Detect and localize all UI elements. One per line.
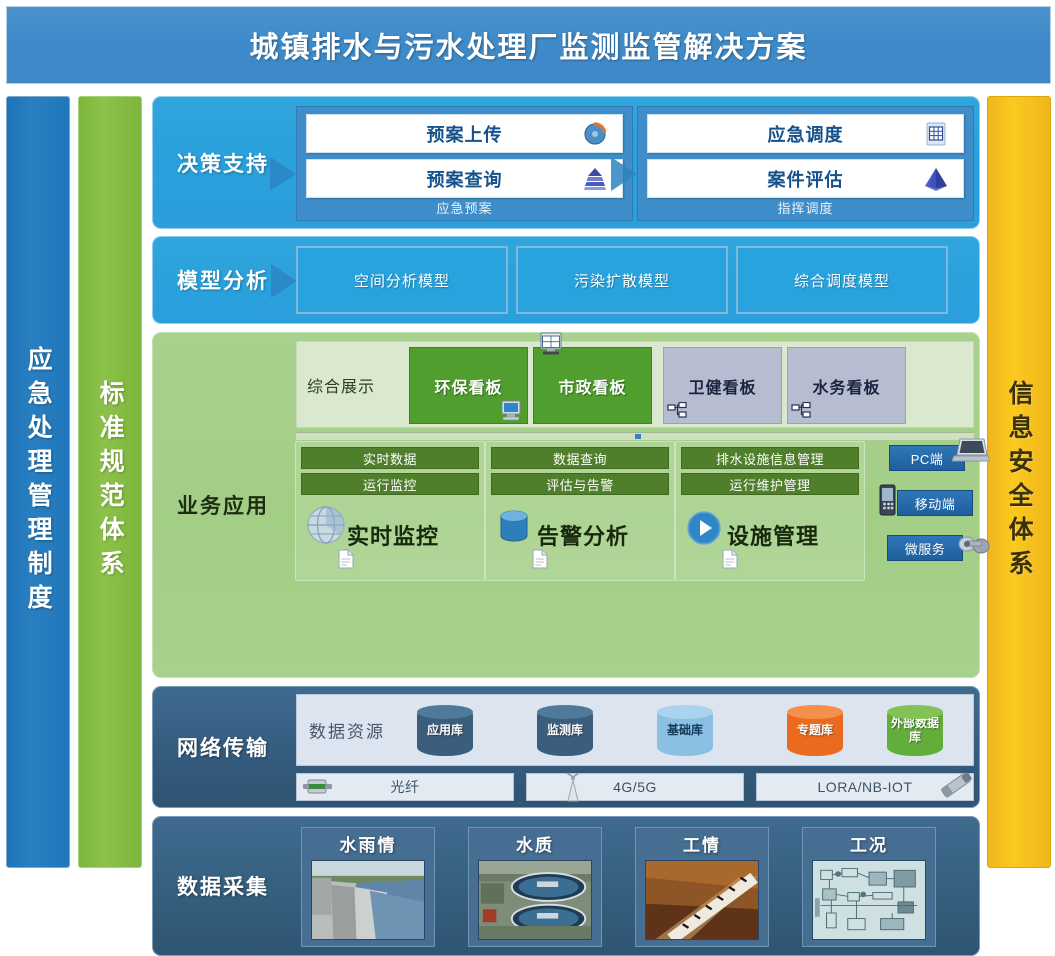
decision-group-command-dispatch-title: 指挥调度 xyxy=(638,198,973,217)
window-chart-icon xyxy=(538,332,564,356)
collect-card-engineering-status[interactable]: 工情 xyxy=(635,827,769,947)
fiber-module-icon xyxy=(303,776,333,798)
chip-operation-monitoring[interactable]: 运行监控 xyxy=(301,473,479,495)
chip-operation-maintenance-label: 运行维护管理 xyxy=(729,475,810,494)
model-card-spatial-analysis-label: 空间分析模型 xyxy=(354,270,450,291)
mobile-phone-icon xyxy=(876,483,900,517)
collect-card-water-quality[interactable]: 水质 xyxy=(468,827,602,947)
board-water-affairs-label: 水务看板 xyxy=(812,374,880,398)
grid-table-icon xyxy=(923,121,949,147)
model-card-spatial-analysis[interactable]: 空间分析模型 xyxy=(296,246,508,314)
chip-assessment-alarm-label: 评估与告警 xyxy=(546,475,614,494)
board-environmental-protection[interactable]: 环保看板 xyxy=(409,347,528,424)
sidebar-standard-specification-system: 标准规范体系 xyxy=(78,96,142,868)
collect-card-water-rain[interactable]: 水雨情 xyxy=(301,827,435,947)
layer-decision-support: 决策支持 预案上传 预案查询 xyxy=(152,96,980,229)
board-water-affairs[interactable]: 水务看板 xyxy=(787,347,906,424)
board-health-label: 卫健看板 xyxy=(688,374,756,398)
module-facility-management[interactable]: 设施管理 xyxy=(681,501,859,569)
sidebar-information-security-system: 信息安全体系 xyxy=(987,96,1051,868)
page-title-bar: 城镇排水与污水处理厂监测监管解决方案 xyxy=(6,6,1051,84)
architecture-layer-stack: 决策支持 预案上传 预案查询 xyxy=(152,96,980,866)
client-mobile[interactable]: 移动端 xyxy=(897,490,973,516)
channel-4g5g-label: 4G/5G xyxy=(613,779,657,795)
chip-realtime-data[interactable]: 实时数据 xyxy=(301,447,479,469)
data-resource-panel: 数据资源 应用库 监测库 基础库 专题库 外部数据库 xyxy=(296,694,974,766)
database-monitoring-label: 监测库 xyxy=(547,724,583,738)
button-case-assessment-label: 案件评估 xyxy=(768,166,844,192)
collect-card-operating-condition[interactable]: 工况 xyxy=(802,827,936,947)
database-external[interactable]: 外部数据库 xyxy=(887,706,943,756)
button-emergency-dispatch-label: 应急调度 xyxy=(768,121,844,147)
globe-icon xyxy=(303,503,349,549)
solution-architecture-diagram: 城镇排水与污水处理厂监测监管解决方案 应急处理管理制度 标准规范体系 信息安全体… xyxy=(0,0,1055,868)
client-pc-label: PC端 xyxy=(911,449,944,468)
comprehensive-display-label: 综合展示 xyxy=(307,373,375,397)
database-icon xyxy=(497,509,531,545)
board-health[interactable]: 卫健看板 xyxy=(663,347,782,424)
model-card-pollution-diffusion-label: 污染扩散模型 xyxy=(574,270,670,291)
layer-data-collection: 数据采集 水雨情 xyxy=(152,816,980,956)
showcase-scrollbar[interactable] xyxy=(296,432,974,440)
client-microservice-label: 微服务 xyxy=(905,539,946,558)
button-plan-upload[interactable]: 预案上传 xyxy=(306,114,623,153)
pyramid-3d-icon xyxy=(923,166,949,192)
pipeline-trench-photo xyxy=(645,860,759,940)
antenna-tower-icon xyxy=(561,771,585,803)
collect-card-engineering-status-label: 工情 xyxy=(636,828,768,858)
business-column-realtime-monitoring: 实时数据 运行监控 xyxy=(301,447,479,575)
chip-assessment-alarm[interactable]: 评估与告警 xyxy=(491,473,669,495)
model-card-integrated-dispatch[interactable]: 综合调度模型 xyxy=(736,246,948,314)
collect-card-water-quality-label: 水质 xyxy=(469,828,601,858)
pyramid-layers-icon xyxy=(582,166,608,192)
client-endpoint-group: PC端 移动端 xyxy=(883,445,975,577)
module-alarm-analysis[interactable]: 告警分析 xyxy=(491,501,669,569)
page-title: 城镇排水与污水处理厂监测监管解决方案 xyxy=(249,24,807,66)
button-emergency-dispatch[interactable]: 应急调度 xyxy=(647,114,964,153)
database-application[interactable]: 应用库 xyxy=(417,706,473,756)
client-mobile-label: 移动端 xyxy=(915,494,956,513)
module-facility-management-label: 设施管理 xyxy=(727,519,819,551)
chip-drainage-facility-info[interactable]: 排水设施信息管理 xyxy=(681,447,859,469)
chip-operation-maintenance[interactable]: 运行维护管理 xyxy=(681,473,859,495)
model-card-integrated-dispatch-label: 综合调度模型 xyxy=(794,270,890,291)
database-thematic[interactable]: 专题库 xyxy=(787,706,843,756)
channel-fiber-label: 光纤 xyxy=(391,777,420,797)
database-basic-label: 基础库 xyxy=(667,724,703,738)
button-plan-query[interactable]: 预案查询 xyxy=(306,159,623,198)
layer-network-transmission: 网络传输 数据资源 应用库 监测库 基础库 专题库 外部数据库 xyxy=(152,686,980,808)
document-icon xyxy=(721,549,739,569)
database-thematic-label: 专题库 xyxy=(797,724,833,738)
scada-schematic-photo xyxy=(812,860,926,940)
module-realtime-monitoring-label: 实时监控 xyxy=(347,519,439,551)
device-icon xyxy=(956,532,992,558)
network-channel-row: 光纤 4G/5G LORA/NB-IOT xyxy=(296,773,974,801)
board-environmental-protection-label: 环保看板 xyxy=(434,374,502,398)
laptop-icon xyxy=(952,436,990,464)
database-monitoring[interactable]: 监测库 xyxy=(537,706,593,756)
decision-group-command-dispatch: 应急调度 案件评估 xyxy=(637,106,974,221)
comprehensive-display-panel: 综合展示 环保看板 市政看板 xyxy=(296,341,974,428)
sidebar-emergency-label: 应急处理管理制度 xyxy=(25,346,51,618)
play-circle-icon xyxy=(685,509,723,547)
button-plan-query-label: 预案查询 xyxy=(427,166,503,192)
board-municipal[interactable]: 市政看板 xyxy=(533,347,652,424)
layer-model-analysis: 模型分析 空间分析模型 污染扩散模型 综合调度模型 xyxy=(152,236,980,324)
button-plan-upload-label: 预案上传 xyxy=(427,121,503,147)
client-pc[interactable]: PC端 xyxy=(889,445,965,471)
sidebar-security-label: 信息安全体系 xyxy=(1006,380,1032,584)
decision-group-emergency-plan: 预案上传 预案查询 xyxy=(296,106,633,221)
layer-business-application: 业务应用 综合展示 环保看板 市政看板 xyxy=(152,332,980,678)
collect-card-water-rain-label: 水雨情 xyxy=(302,828,434,858)
chip-operation-monitoring-label: 运行监控 xyxy=(363,475,417,494)
layer-data-collection-label: 数据采集 xyxy=(153,817,293,955)
collect-card-operating-condition-label: 工况 xyxy=(803,828,935,858)
business-column-facility-management: 排水设施信息管理 运行维护管理 xyxy=(681,447,859,575)
river-embankment-photo xyxy=(311,860,425,940)
layer-business-application-label: 业务应用 xyxy=(153,333,293,677)
flow-node-icon xyxy=(667,402,687,420)
arrow-notch-icon xyxy=(271,264,297,298)
business-column-alarm-analysis: 数据查询 评估与告警 xyxy=(491,447,669,575)
client-microservice[interactable]: 微服务 xyxy=(887,535,963,561)
button-case-assessment[interactable]: 案件评估 xyxy=(647,159,964,198)
channel-lora-nbiot-label: LORA/NB-IOT xyxy=(818,779,913,795)
sidebar-emergency-management-system: 应急处理管理制度 xyxy=(6,96,70,868)
data-resource-label: 数据资源 xyxy=(309,718,385,743)
sidebar-standard-label: 标准规范体系 xyxy=(97,380,123,584)
chip-drainage-facility-info-label: 排水设施信息管理 xyxy=(716,449,824,468)
flow-node-icon xyxy=(791,402,811,420)
chip-data-query-label: 数据查询 xyxy=(553,449,607,468)
arrow-notch-icon xyxy=(611,157,637,191)
database-basic[interactable]: 基础库 xyxy=(657,706,713,756)
globe-cycle-icon xyxy=(582,121,608,147)
layer-network-transmission-label: 网络传输 xyxy=(153,687,293,807)
database-external-label: 外部数据库 xyxy=(887,717,943,745)
channel-fiber[interactable]: 光纤 xyxy=(296,773,514,801)
channel-4g5g[interactable]: 4G/5G xyxy=(526,773,744,801)
sensor-device-icon xyxy=(935,768,977,802)
document-icon xyxy=(531,549,549,569)
document-icon xyxy=(337,549,355,569)
chip-realtime-data-label: 实时数据 xyxy=(363,449,417,468)
decision-group-emergency-plan-title: 应急预案 xyxy=(297,198,632,217)
chip-data-query[interactable]: 数据查询 xyxy=(491,447,669,469)
model-card-pollution-diffusion[interactable]: 污染扩散模型 xyxy=(516,246,728,314)
database-application-label: 应用库 xyxy=(427,724,463,738)
arrow-notch-icon xyxy=(270,157,296,191)
module-alarm-analysis-label: 告警分析 xyxy=(537,519,629,551)
scrollbar-thumb[interactable] xyxy=(635,434,641,439)
module-realtime-monitoring[interactable]: 实时监控 xyxy=(301,501,479,569)
board-municipal-label: 市政看板 xyxy=(558,374,626,398)
sewage-treatment-tanks-photo xyxy=(478,860,592,940)
monitor-icon xyxy=(499,399,523,421)
channel-lora-nbiot[interactable]: LORA/NB-IOT xyxy=(756,773,974,801)
